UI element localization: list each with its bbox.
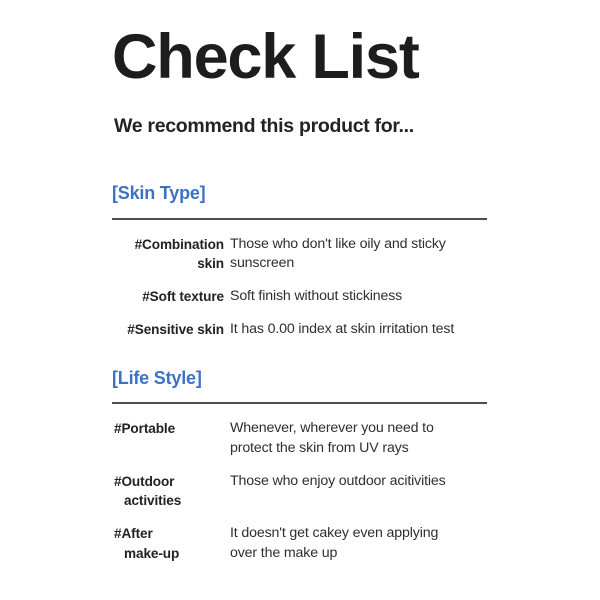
row-label-line: #After bbox=[114, 526, 153, 541]
row-description: It doesn't get cakey even applying over … bbox=[230, 524, 488, 563]
row-label-line: make-up bbox=[116, 544, 224, 563]
row-description-line: sunscreen bbox=[230, 254, 488, 273]
row-label: #Outdoor activities bbox=[112, 472, 230, 511]
row-label-line: #Combination bbox=[135, 237, 224, 252]
list-item: #After make-up It doesn't get cakey even… bbox=[112, 524, 488, 563]
list-item: #Sensitive skin It has 0.00 index at ski… bbox=[112, 320, 488, 339]
section-heading-life-style: [Life Style] bbox=[112, 367, 488, 390]
row-label-line: skin bbox=[112, 254, 224, 273]
row-description: Those who don't like oily and sticky sun… bbox=[230, 235, 488, 274]
section-divider bbox=[112, 402, 487, 404]
row-label-line: #Sensitive skin bbox=[127, 322, 224, 337]
row-label-line: activities bbox=[116, 491, 224, 510]
row-label-line: #Portable bbox=[114, 421, 175, 436]
rows-skin-type: #Combination skin Those who don't like o… bbox=[112, 235, 488, 340]
row-label-line: #Soft texture bbox=[142, 289, 224, 304]
list-item: #Outdoor activities Those who enjoy outd… bbox=[112, 472, 488, 511]
row-label: #Sensitive skin bbox=[112, 320, 230, 339]
rows-life-style: #Portable Whenever, wherever you need to… bbox=[112, 419, 488, 563]
checklist-page: Check List We recommend this product for… bbox=[0, 0, 600, 600]
row-label-line: #Outdoor bbox=[114, 474, 174, 489]
page-title: Check List bbox=[112, 26, 419, 89]
row-description-line: protect the skin from UV rays bbox=[230, 439, 488, 458]
row-description-line: Those who enjoy outdoor acitivities bbox=[230, 472, 488, 491]
row-description: Whenever, wherever you need to protect t… bbox=[230, 419, 488, 458]
section-life-style: [Life Style] #Portable Whenever, whereve… bbox=[112, 367, 488, 563]
row-description: Those who enjoy outdoor acitivities bbox=[230, 472, 488, 491]
sections-list: [Skin Type] #Combination skin Those who … bbox=[112, 182, 488, 563]
section-divider bbox=[112, 218, 487, 220]
list-item: #Soft texture Soft finish without sticki… bbox=[112, 287, 488, 306]
row-label: #Soft texture bbox=[112, 287, 230, 306]
row-label: #After make-up bbox=[112, 524, 230, 563]
section-heading-skin-type: [Skin Type] bbox=[112, 182, 488, 205]
row-label: #Combination skin bbox=[112, 235, 230, 274]
row-description-line: It has 0.00 index at skin irritation tes… bbox=[230, 320, 488, 339]
section-skin-type: [Skin Type] #Combination skin Those who … bbox=[112, 182, 488, 340]
list-item: #Portable Whenever, wherever you need to… bbox=[112, 419, 488, 458]
row-description-line: over the make up bbox=[230, 544, 488, 563]
row-description-line: Those who don't like oily and sticky bbox=[230, 235, 488, 254]
row-description-line: Whenever, wherever you need to bbox=[230, 419, 488, 438]
row-label: #Portable bbox=[112, 419, 230, 438]
list-item: #Combination skin Those who don't like o… bbox=[112, 235, 488, 274]
row-description: It has 0.00 index at skin irritation tes… bbox=[230, 320, 488, 339]
row-description-line: Soft finish without stickiness bbox=[230, 287, 488, 306]
row-description: Soft finish without stickiness bbox=[230, 287, 488, 306]
page-subtitle: We recommend this product for... bbox=[114, 116, 414, 137]
row-description-line: It doesn't get cakey even applying bbox=[230, 524, 488, 543]
